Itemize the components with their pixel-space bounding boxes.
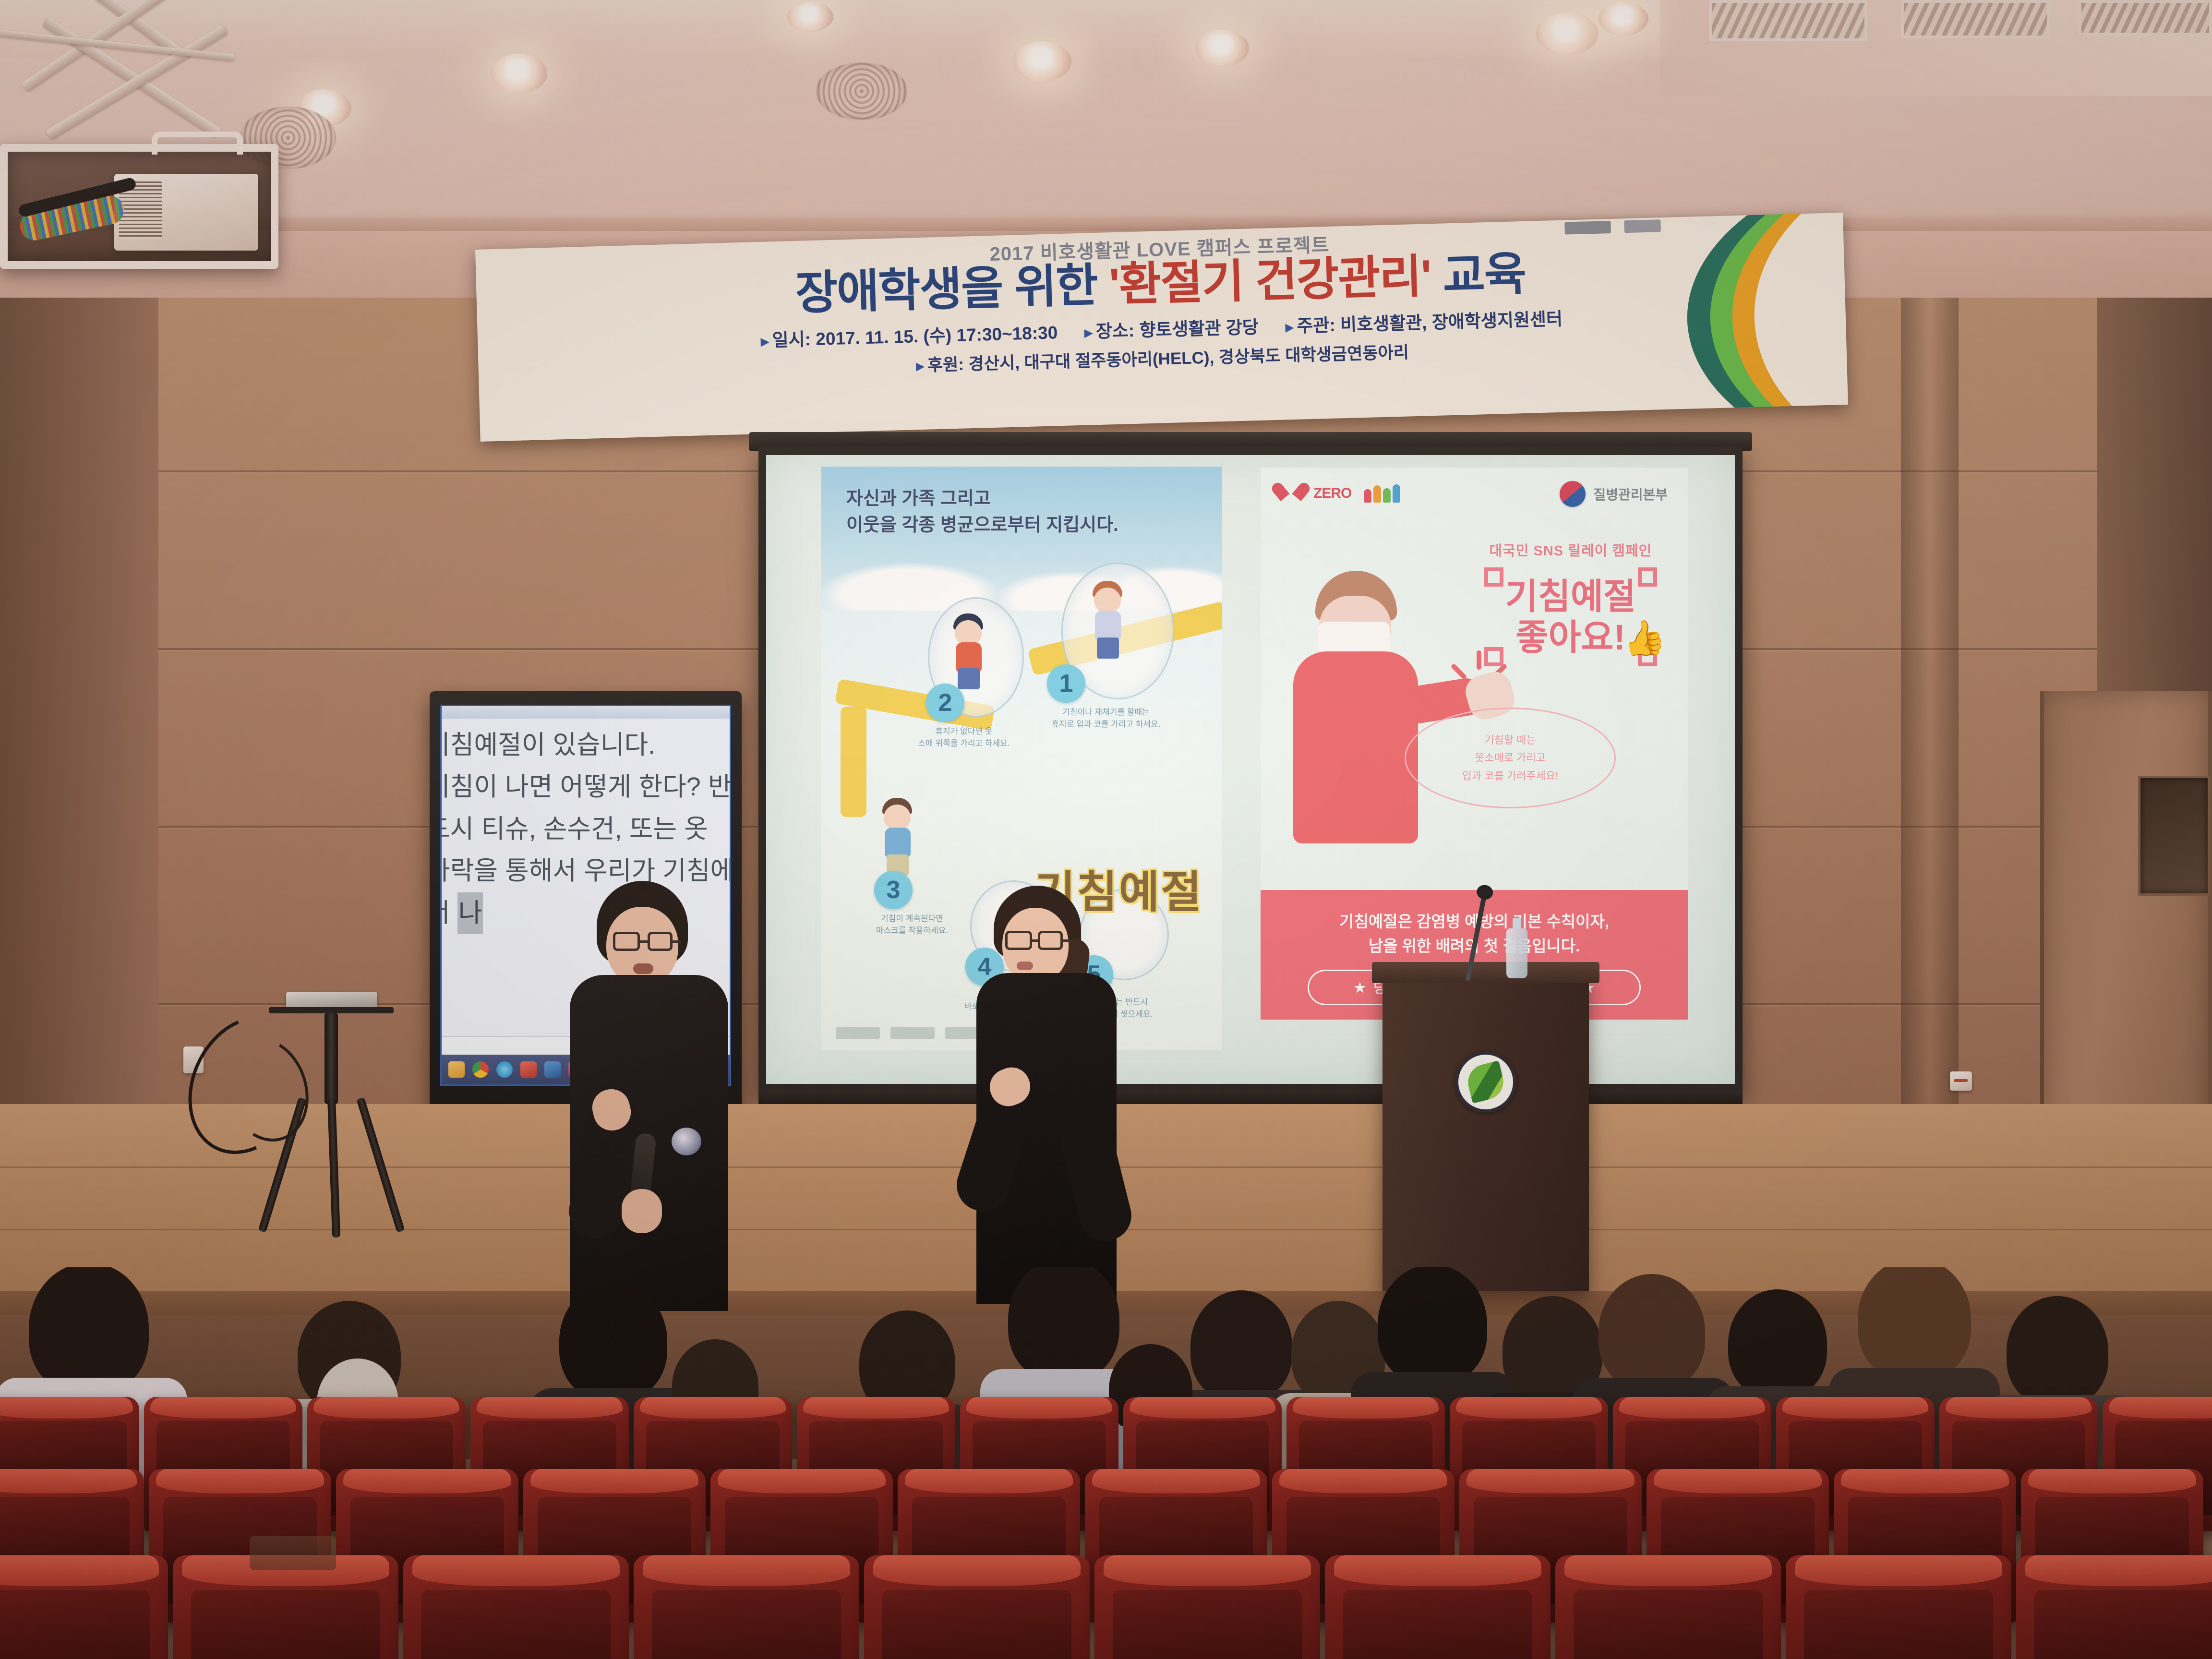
glasses-icon: [648, 932, 673, 951]
auditorium-seat[interactable]: [403, 1555, 629, 1659]
document-toolbar[interactable]: [442, 706, 730, 719]
lectern-podium: [1382, 974, 1589, 1291]
banner-title-part3: 교육: [1430, 248, 1526, 302]
auditorium-seat[interactable]: [2016, 1555, 2212, 1659]
campaign-speech-bubble: 기침할 때는 옷소매로 가리고 입과 코를 가려주세요!: [1405, 708, 1616, 808]
slide-step-caption: 휴지가 없다면 옷 소매 위쪽을 가리고 하세요.: [909, 726, 1019, 749]
ceiling-step: [0, 218, 2212, 231]
mail-icon[interactable]: [544, 1061, 561, 1078]
heart-icon: [1280, 484, 1301, 503]
lecturer-brooch: [672, 1128, 701, 1155]
interpreter-mouth: [1017, 962, 1033, 970]
event-banner: 2017 비호생활관 LOVE 캠퍼스 프로젝트 장애학생을 위한 '환절기 건…: [475, 213, 1848, 442]
audience-hair: [2007, 1296, 2108, 1407]
center-aisle: [250, 1536, 336, 1570]
star-icon: ★: [1354, 980, 1366, 996]
ceiling-ac-grille: [2079, 0, 2212, 36]
interpreter-right-arm: [1056, 1113, 1137, 1246]
audience-hair: [1378, 1267, 1487, 1384]
ceiling-downlight: [1195, 30, 1249, 66]
tripod-center-column: [325, 1013, 338, 1104]
lecture-hall-photo: 2017 비호생활관 LOVE 캠퍼스 프로젝트 장애학생을 위한 '환절기 건…: [0, 0, 2212, 1659]
caption-line-1: 기침예절이 있습니다.: [440, 724, 731, 766]
auditorium-seat[interactable]: [0, 1555, 168, 1659]
lecturer-mic-hand: [622, 1189, 662, 1233]
banner-logo-strip: [1564, 219, 1661, 234]
text-caret: 나: [457, 892, 483, 934]
banner-datetime: 일시: 2017. 11. 15. (수) 17:30~18:30: [760, 318, 1058, 352]
auditorium-seat[interactable]: [634, 1555, 859, 1659]
auditorium-seat[interactable]: [1786, 1555, 2011, 1659]
auditorium-seat[interactable]: [1325, 1555, 1551, 1659]
wall-column: [1901, 298, 1959, 1142]
projection-screen: 자신과 가족 그리고 이웃을 각종 병균으로부터 지킵시다. 1 기침이나 재채…: [758, 446, 1743, 1094]
emblem-leaf-icon: [1464, 1060, 1507, 1104]
slide-headline-line2: 이웃을 각종 병균으로부터 지킵시다.: [846, 512, 1207, 539]
projector-cage-handle: [152, 132, 243, 155]
campaign-slogan-frame: 기침예절 좋아요! 👍: [1484, 567, 1657, 666]
children-logo-icon: [1364, 484, 1400, 503]
campaign-illustration-person: [1288, 571, 1447, 878]
caption-line-2: 기침이 나면 어떻게 한다? 반: [440, 766, 731, 808]
campaign-slogan-line1: 기침예절: [1505, 576, 1636, 617]
sign-language-interpreter: [969, 886, 1127, 1298]
auditorium-seating: [0, 1267, 2212, 1659]
gov-agency-label: 질병관리본부: [1593, 484, 1668, 504]
slide-step-number: 2: [926, 684, 964, 722]
sponsor-logo-icon: [1564, 221, 1611, 235]
ceiling-downlight: [787, 2, 833, 32]
partner-logo-icon: [890, 1027, 935, 1039]
file-explorer-icon[interactable]: [448, 1061, 465, 1078]
campaign-slogan-block: 대국민 SNS 릴레이 캠페인 기침예절 좋아요! 👍: [1484, 540, 1657, 666]
auditorium-seat[interactable]: [1555, 1555, 1781, 1659]
podium-top-surface: [1372, 962, 1599, 983]
ceiling-ac-grille: [1709, 0, 1867, 41]
bracket-icon: [1484, 567, 1503, 587]
campaign-slogan-line2: 좋아요!: [1505, 617, 1636, 658]
illustration-body: [1293, 651, 1418, 843]
ceiling-downlight: [491, 54, 547, 93]
slide-step-caption: 기침이나 재채기를 할때는 휴지로 입과 코를 가리고 하세요.: [1051, 707, 1161, 730]
sponsor-logo-icon: [1624, 219, 1661, 233]
glasses-icon: [1005, 931, 1032, 950]
glasses-icon: [613, 932, 640, 951]
caption-line-3: 드시 티슈, 손수건, 또는 옷: [440, 808, 731, 850]
caption-line-5: 서: [440, 899, 457, 927]
auditorium-seat[interactable]: [173, 1555, 398, 1659]
audience-hair: [1008, 1267, 1119, 1382]
media-player-icon[interactable]: [520, 1061, 537, 1078]
wall-left-return: [0, 298, 158, 1114]
water-bottle: [1506, 928, 1527, 978]
audience-hair: [1190, 1290, 1292, 1402]
audience-hair: [1858, 1267, 1971, 1381]
bracket-icon: [1638, 567, 1657, 587]
taegeuk-icon: [1560, 481, 1586, 507]
glasses-icon: [1038, 931, 1063, 950]
interpreter-face: [1002, 908, 1069, 984]
chrome-icon[interactable]: [472, 1061, 489, 1078]
campaign-logo-group: ZERO: [1280, 484, 1400, 503]
partner-logo-icon: [836, 1027, 880, 1039]
university-emblem: [1455, 1051, 1516, 1113]
slide-headline: 자신과 가족 그리고 이웃을 각종 병균으로부터 지킵시다.: [846, 486, 1207, 539]
projector-cage: [0, 144, 278, 269]
ceiling-downlight: [1599, 2, 1648, 36]
ceiling-air-vent: [816, 62, 907, 120]
door-window: [2138, 776, 2210, 896]
government-logo-group: 질병관리본부: [1560, 481, 1668, 507]
audience-hair: [559, 1282, 667, 1401]
slide-flow-arrow: [841, 707, 866, 817]
banner-host: 주관: 비호생활관, 장애학생지원센터: [1285, 304, 1563, 338]
auditorium-seat[interactable]: [864, 1555, 1090, 1659]
slide-step-number: 3: [874, 871, 913, 909]
projector-body: [114, 174, 258, 251]
ceiling-projector-rig: [0, 0, 307, 278]
banner-place: 장소: 향토생활관 강당: [1084, 313, 1259, 343]
campaign-eyebrow: 대국민 SNS 릴레이 캠페인: [1484, 540, 1657, 560]
banner-title-part1: 장애학생을 위한: [795, 259, 1110, 319]
bracket-icon: [1484, 647, 1503, 666]
ceiling-ac-grille: [1901, 0, 2050, 38]
ceiling-downlight: [1536, 12, 1599, 55]
campaign-red-line1: 기침예절은 감염병 예방의 기본 수칙이자,: [1261, 909, 1688, 934]
auditorium-seat[interactable]: [1094, 1555, 1320, 1659]
exit-door-right[interactable]: [2040, 691, 2212, 1176]
lecturer-body: [570, 975, 728, 1311]
interpreter-body: [976, 973, 1117, 1304]
lecturer: [569, 881, 742, 1308]
thumbs-up-icon: 👍: [1620, 615, 1669, 661]
slide-step-caption: 기침이 계속된다면 마스크를 착용하세요.: [857, 913, 967, 937]
slide-step-number: 1: [1047, 664, 1085, 703]
lecturer-face: [606, 907, 678, 986]
audience-hair: [29, 1267, 149, 1395]
lecturer-mouth: [633, 963, 653, 974]
ceiling-downlight: [1013, 41, 1071, 82]
campaign-zero-label: ZERO: [1313, 485, 1351, 502]
light-switch[interactable]: [1950, 1071, 1972, 1091]
slide-headline-line1: 자신과 가족 그리고: [846, 486, 1207, 512]
audience-hair: [1728, 1289, 1827, 1398]
projection-screen-surface: 자신과 가족 그리고 이웃을 각종 병균으로부터 지킵시다. 1 기침이나 재채…: [766, 455, 1735, 1084]
audience-hair: [1599, 1274, 1705, 1390]
tripod-leg: [327, 1098, 340, 1238]
internet-explorer-icon[interactable]: [496, 1061, 513, 1078]
